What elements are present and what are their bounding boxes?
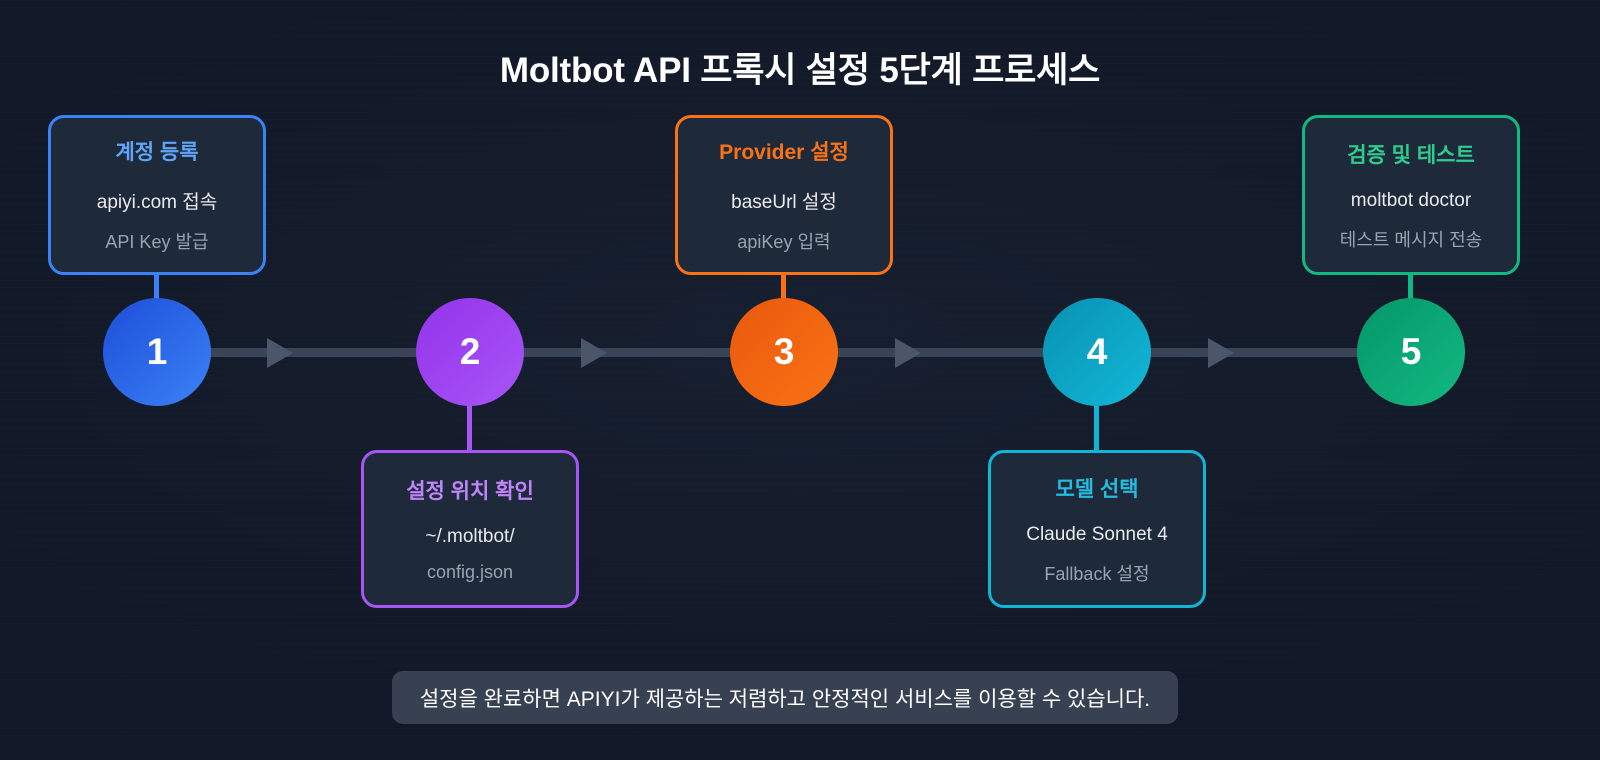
step-card-line1-3: baseUrl 설정 — [731, 187, 837, 214]
process-diagram: Moltbot API 프록시 설정 5단계 프로세스 계정 등록 apiyi.… — [0, 0, 1600, 760]
step-circle-5[interactable]: 5 — [1357, 298, 1465, 406]
step-card-line1-1: apiyi.com 접속 — [97, 187, 218, 214]
connector-arrow-2-3 — [581, 338, 607, 368]
step-number-5: 5 — [1401, 331, 1422, 373]
step-card-line1-5: moltbot doctor — [1351, 190, 1471, 212]
step-card-title-5: 검증 및 테스트 — [1347, 139, 1475, 169]
step-circle-3[interactable]: 3 — [730, 298, 838, 406]
step-card-line2-4: Fallback 설정 — [1044, 560, 1149, 586]
step-card-line2-1: API Key 발급 — [105, 228, 208, 254]
step-stem-4 — [1094, 404, 1099, 452]
step-circle-1[interactable]: 1 — [103, 298, 211, 406]
step-number-3: 3 — [774, 331, 795, 373]
step-card-title-1: 계정 등록 — [115, 136, 198, 166]
page-title: Moltbot API 프록시 설정 5단계 프로세스 — [0, 42, 1600, 93]
step-card-1[interactable]: 계정 등록 apiyi.com 접속 API Key 발급 — [48, 115, 266, 275]
connector-arrow-3-4 — [895, 338, 921, 368]
step-card-line2-2: config.json — [427, 562, 513, 583]
footer-text: 설정을 완료하면 APIYI가 제공하는 저렴하고 안정적인 서비스를 이용할 … — [420, 683, 1150, 713]
step-card-title-2: 설정 위치 확인 — [406, 475, 534, 505]
step-circle-2[interactable]: 2 — [416, 298, 524, 406]
step-stem-2 — [467, 404, 472, 452]
step-card-4[interactable]: 모델 선택 Claude Sonnet 4 Fallback 설정 — [988, 450, 1206, 608]
step-number-1: 1 — [147, 331, 168, 373]
step-card-2[interactable]: 설정 위치 확인 ~/.moltbot/ config.json — [361, 450, 579, 608]
step-number-4: 4 — [1087, 331, 1108, 373]
step-card-5[interactable]: 검증 및 테스트 moltbot doctor 테스트 메시지 전송 — [1302, 115, 1520, 275]
step-number-2: 2 — [460, 331, 481, 373]
step-card-title-3: Provider 설정 — [719, 136, 849, 166]
step-card-line2-5: 테스트 메시지 전송 — [1340, 226, 1482, 252]
step-card-line2-3: apiKey 입력 — [737, 228, 830, 254]
step-card-line1-2: ~/.moltbot/ — [425, 526, 514, 548]
connector-arrow-1-2 — [267, 338, 293, 368]
connector-arrow-4-5 — [1208, 338, 1234, 368]
footer-banner: 설정을 완료하면 APIYI가 제공하는 저렴하고 안정적인 서비스를 이용할 … — [392, 671, 1178, 724]
step-card-title-4: 모델 선택 — [1055, 473, 1138, 503]
step-card-line1-4: Claude Sonnet 4 — [1026, 524, 1168, 546]
step-card-3[interactable]: Provider 설정 baseUrl 설정 apiKey 입력 — [675, 115, 893, 275]
step-circle-4[interactable]: 4 — [1043, 298, 1151, 406]
